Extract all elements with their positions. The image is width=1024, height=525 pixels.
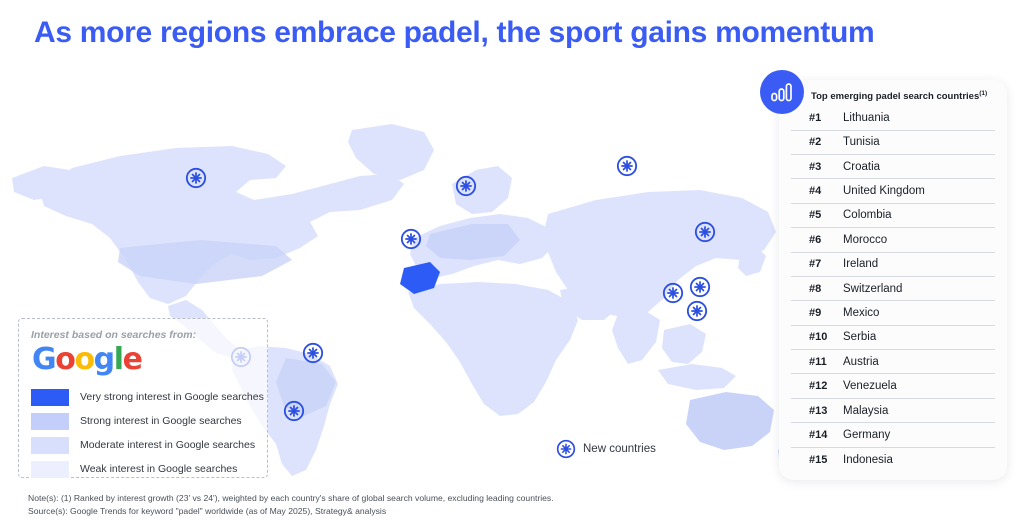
google-logo-letter-1: G: [32, 342, 55, 377]
land-india: [612, 310, 660, 364]
map-marker-southeast-asia[interactable]: [662, 282, 684, 304]
rank-country: Venezuela: [843, 380, 897, 392]
legend-label-strong: Strong interest in Google searches: [80, 415, 242, 427]
table-row[interactable]: #13Malaysia: [791, 399, 995, 423]
ranking-card-footnote-marker: (1): [979, 90, 987, 97]
legend-item: Strong interest in Google searches: [31, 409, 255, 433]
rank-country: Lithuania: [843, 112, 890, 124]
land-africa: [408, 282, 578, 416]
legend-swatch-very-strong: [31, 389, 69, 406]
rank-country: Indonesia: [843, 454, 893, 466]
slide-root: As more regions embrace padel, the sport…: [0, 0, 1024, 525]
table-row[interactable]: #7Ireland: [791, 253, 995, 277]
table-row[interactable]: #4United Kingdom: [791, 179, 995, 203]
map-marker-eastern-europe[interactable]: [616, 155, 638, 177]
legend-label-moderate: Moderate interest in Google searches: [80, 439, 255, 451]
rank-number: #4: [791, 185, 843, 197]
table-row[interactable]: #9Mexico: [791, 301, 995, 325]
table-row[interactable]: #11Austria: [791, 350, 995, 374]
new-country-marker-icon: [556, 439, 576, 459]
legend-swatch-moderate: [31, 437, 69, 454]
rank-number: #7: [791, 258, 843, 270]
table-row[interactable]: #5Colombia: [791, 204, 995, 228]
table-row[interactable]: #12Venezuela: [791, 374, 995, 398]
map-marker-middle-east[interactable]: [694, 221, 716, 243]
rank-number: #11: [791, 356, 843, 368]
legend-heading: Interest based on searches from:: [31, 329, 255, 341]
map-legend: Interest based on searches from: Google …: [18, 318, 268, 478]
rank-number: #2: [791, 136, 843, 148]
map-marker-indonesia[interactable]: [686, 300, 708, 322]
land-southeast-asia: [662, 324, 706, 364]
rank-country: Switzerland: [843, 283, 902, 295]
legend-swatch-weak: [31, 461, 69, 478]
map-marker-north-america[interactable]: [185, 167, 207, 189]
rank-number: #5: [791, 209, 843, 221]
map-marker-western-europe[interactable]: [455, 175, 477, 197]
rank-number: #10: [791, 331, 843, 343]
google-logo: Google: [32, 343, 255, 377]
rank-country: Austria: [843, 356, 879, 368]
table-row[interactable]: #8Switzerland: [791, 277, 995, 301]
legend-item: Very strong interest in Google searches: [31, 385, 255, 409]
legend-item: Moderate interest in Google searches: [31, 433, 255, 457]
ranking-card-title-text: Top emerging padel search countries: [811, 91, 979, 102]
legend-label-very-strong: Very strong interest in Google searches: [80, 391, 264, 403]
new-countries-label: New countries: [583, 443, 656, 455]
map-marker-south-america-south[interactable]: [283, 400, 305, 422]
legend-swatch-strong: [31, 413, 69, 430]
rank-country: Croatia: [843, 161, 880, 173]
legend-item: Weak interest in Google searches: [31, 457, 255, 481]
map-marker-south-america-east[interactable]: [302, 342, 324, 364]
rank-country: Tunisia: [843, 136, 880, 148]
rank-number: #14: [791, 429, 843, 441]
rank-number: #3: [791, 161, 843, 173]
rank-number: #15: [791, 454, 843, 466]
new-countries-key: New countries: [556, 439, 656, 459]
land-greenland: [348, 124, 434, 180]
ranking-card-title: Top emerging padel search countries(1): [811, 90, 995, 102]
table-row[interactable]: #3Croatia: [791, 155, 995, 179]
legend-items: Very strong interest in Google searches …: [31, 385, 255, 481]
table-row[interactable]: #14Germany: [791, 423, 995, 447]
google-logo-letter-4: g: [94, 342, 114, 377]
map-marker-east-asia[interactable]: [689, 276, 711, 298]
rank-country: Germany: [843, 429, 890, 441]
google-logo-letter-6: e: [123, 342, 142, 377]
table-row[interactable]: #1Lithuania: [791, 106, 995, 130]
map-marker-north-africa[interactable]: [400, 228, 422, 250]
legend-label-weak: Weak interest in Google searches: [80, 463, 237, 475]
rank-number: #13: [791, 405, 843, 417]
rank-number: #6: [791, 234, 843, 246]
rank-country: Malaysia: [843, 405, 888, 417]
page-title: As more regions embrace padel, the sport…: [34, 14, 964, 52]
table-row[interactable]: #15Indonesia: [791, 448, 995, 472]
footnote-source: Source(s): Google Trends for keyword "pa…: [28, 505, 554, 517]
rank-number: #1: [791, 112, 843, 124]
rank-number: #9: [791, 307, 843, 319]
rank-country: United Kingdom: [843, 185, 925, 197]
footnote-note: Note(s): (1) Ranked by interest growth (…: [28, 492, 554, 504]
rank-number: #12: [791, 380, 843, 392]
land-indonesia: [658, 364, 736, 390]
bar-chart-icon: [770, 82, 794, 102]
rank-country: Ireland: [843, 258, 878, 270]
footnotes: Note(s): (1) Ranked by interest growth (…: [28, 492, 554, 517]
table-row[interactable]: #2Tunisia: [791, 131, 995, 155]
google-logo-letter-2: o: [55, 342, 74, 377]
rank-country: Morocco: [843, 234, 887, 246]
ranking-list: #1Lithuania #2Tunisia #3Croatia #4United…: [791, 106, 995, 472]
table-row[interactable]: #6Morocco: [791, 228, 995, 252]
table-row[interactable]: #10Serbia: [791, 326, 995, 350]
google-logo-letter-3: o: [74, 342, 93, 377]
rank-country: Serbia: [843, 331, 876, 343]
rank-country: Colombia: [843, 209, 892, 221]
bar-chart-badge: [760, 70, 804, 114]
ranking-card: Top emerging padel search countries(1) #…: [779, 80, 1007, 480]
rank-country: Mexico: [843, 307, 879, 319]
rank-number: #8: [791, 283, 843, 295]
land-australia: [686, 392, 774, 450]
google-logo-letter-5: l: [114, 342, 123, 377]
